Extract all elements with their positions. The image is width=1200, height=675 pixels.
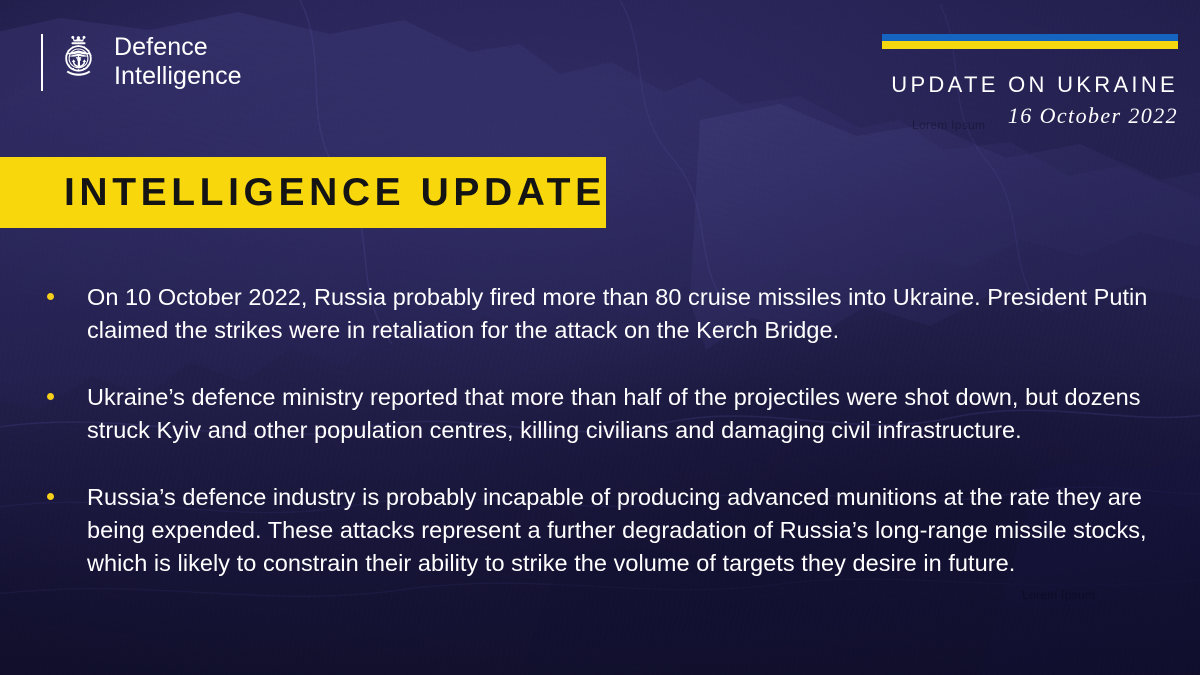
banner-label: INTELLIGENCE UPDATE xyxy=(64,172,606,214)
header-right-block: UPDATE ON UKRAINE 16 October 2022 xyxy=(882,34,1178,129)
brand-lockup: Defence Intelligence xyxy=(41,33,242,91)
ukraine-flag-bar-icon xyxy=(882,34,1178,49)
header-date: 16 October 2022 xyxy=(882,102,1178,129)
brand-name: Defence Intelligence xyxy=(114,33,242,91)
bullet-dot-icon xyxy=(47,293,54,300)
brand-name-line1: Defence xyxy=(114,33,242,62)
intelligence-update-slide: Defence Intelligence UPDATE ON UKRAINE 1… xyxy=(0,0,1200,675)
flag-stripe-blue xyxy=(882,34,1178,41)
list-item: On 10 October 2022, Russia probably fire… xyxy=(41,281,1176,347)
brand-name-line2: Intelligence xyxy=(114,62,242,91)
bullet-dot-icon xyxy=(47,493,54,500)
bullet-list: On 10 October 2022, Russia probably fire… xyxy=(41,281,1176,580)
defence-intelligence-crest-icon xyxy=(56,34,101,91)
bullet-text: Ukraine’s defence ministry reported that… xyxy=(87,384,1141,443)
bullet-text: On 10 October 2022, Russia probably fire… xyxy=(87,284,1147,343)
list-item: Ukraine’s defence ministry reported that… xyxy=(41,381,1176,447)
flag-stripe-yellow xyxy=(882,41,1178,49)
bullet-dot-icon xyxy=(47,393,54,400)
watermark-lower-right: Lorem Ipsum xyxy=(1022,588,1095,602)
intelligence-update-banner: INTELLIGENCE UPDATE xyxy=(0,157,606,228)
header-title: UPDATE ON UKRAINE xyxy=(882,72,1178,98)
bullet-text: Russia’s defence industry is probably in… xyxy=(87,484,1147,576)
brand-divider-rule xyxy=(41,34,43,91)
list-item: Russia’s defence industry is probably in… xyxy=(41,481,1176,580)
